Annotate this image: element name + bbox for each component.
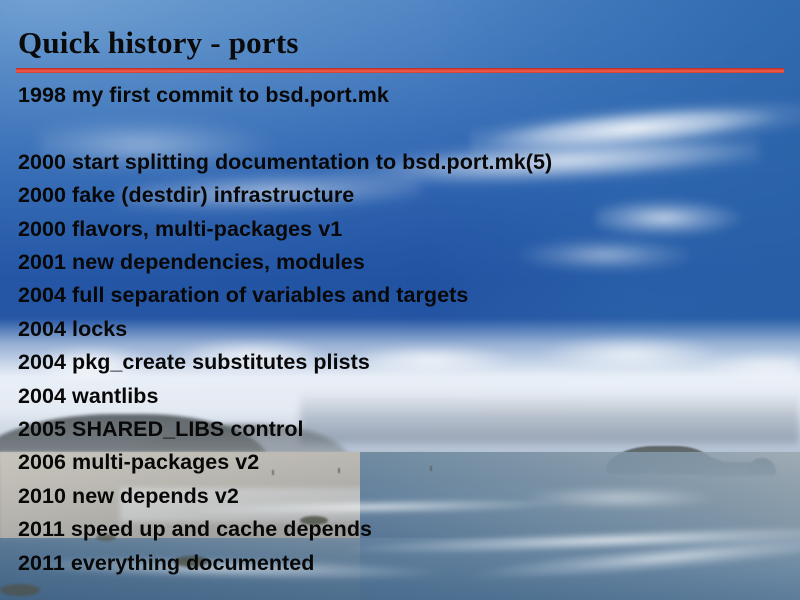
bullet-line: 2000 start splitting documentation to bs… [18,146,788,179]
bullet-list: 1998 my first commit to bsd.port.mk 2000… [18,79,788,580]
bullet-line: 2004 full separation of variables and ta… [18,279,788,312]
bullet-line: 2011 everything documented [18,547,788,580]
bullet-line: 2005 SHARED_LIBS control [18,413,788,446]
bullet-line: 2004 locks [18,313,788,346]
bullet-line: 2001 new dependencies, modules [18,246,788,279]
bullet-line: 2006 multi-packages v2 [18,446,788,479]
slide-title: Quick history - ports [18,24,299,62]
presentation-slide: Quick history - ports 1998 my first comm… [0,0,800,600]
bullet-line: 2000 flavors, multi-packages v1 [18,213,788,246]
bullet-line: 1998 my first commit to bsd.port.mk [18,79,788,112]
title-underline-rule [16,68,784,73]
slide-content: Quick history - ports 1998 my first comm… [0,0,800,600]
bullet-line: 2004 wantlibs [18,380,788,413]
bullet-line-spacer [18,112,788,145]
bullet-line: 2011 speed up and cache depends [18,513,788,546]
bullet-line: 2004 pkg_create substitutes plists [18,346,788,379]
bullet-line: 2000 fake (destdir) infrastructure [18,179,788,212]
bullet-line: 2010 new depends v2 [18,480,788,513]
